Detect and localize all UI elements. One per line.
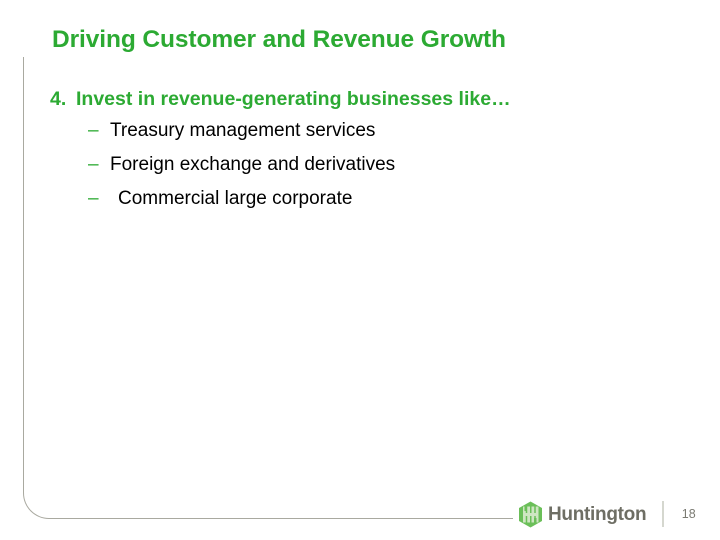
list-item: – Commercial large corporate — [88, 189, 650, 223]
list-item: – Foreign exchange and derivatives — [88, 155, 650, 189]
dash-bullet-icon: – — [88, 121, 110, 140]
footer-divider — [662, 501, 664, 527]
page-number: 18 — [682, 508, 696, 521]
list-item-label: Treasury management services — [110, 121, 375, 140]
numbered-list-marker: 4. — [50, 88, 76, 111]
sub-bullet-list: – Treasury management services – Foreign… — [50, 121, 650, 223]
list-item: – Treasury management services — [88, 121, 650, 155]
huntington-wordmark: Huntington — [548, 505, 646, 524]
dash-bullet-icon: – — [88, 189, 118, 208]
list-item-label: Foreign exchange and derivatives — [110, 155, 395, 174]
numbered-list-text: Invest in revenue-generating businesses … — [76, 88, 511, 111]
list-item-label: Commercial large corporate — [118, 189, 352, 208]
dash-bullet-icon: – — [88, 155, 110, 174]
numbered-list-item: 4. Invest in revenue-generating business… — [50, 88, 650, 111]
huntington-hexagon-icon — [518, 501, 543, 528]
slide-title: Driving Customer and Revenue Growth — [52, 26, 506, 54]
slide: Driving Customer and Revenue Growth 4. I… — [0, 0, 720, 540]
slide-footer: Huntington 18 — [518, 498, 696, 530]
slide-body: 4. Invest in revenue-generating business… — [50, 88, 650, 223]
